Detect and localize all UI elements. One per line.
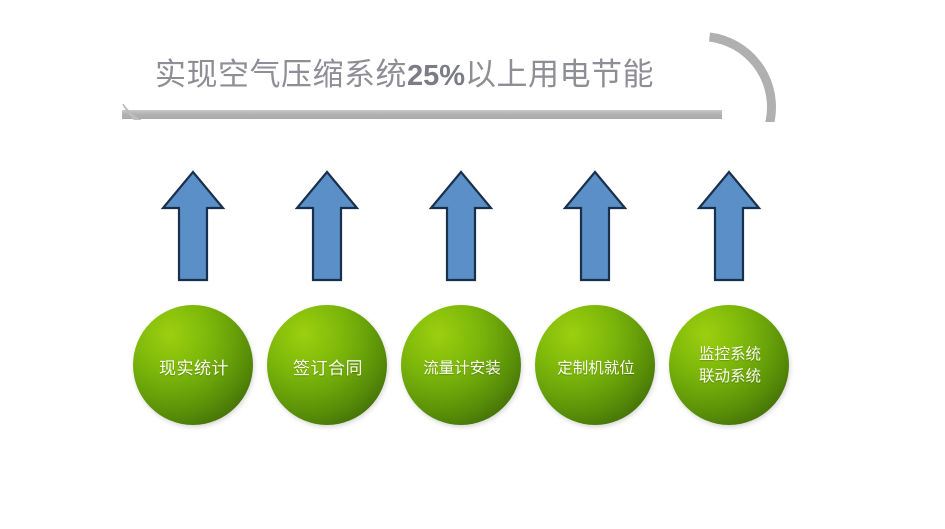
process-step-3[interactable]: 流量计安装 — [394, 160, 528, 440]
banner-bar-left-taper-icon — [118, 104, 164, 120]
banner-crescent-arc-icon — [660, 26, 784, 122]
process-bubble-5[interactable]: 监控系统 联动系统 — [669, 305, 789, 425]
process-bubble-4[interactable]: 定制机就位 — [535, 305, 655, 425]
process-bubble-label-3: 流量计安装 — [421, 352, 501, 379]
title-banner: 实现空气压缩系统25%以上用电节能 — [0, 0, 945, 150]
process-step-1[interactable]: 现实统计 — [126, 160, 260, 440]
process-step-2[interactable]: 签订合同 — [260, 160, 394, 440]
up-arrow-icon-5 — [697, 170, 761, 282]
banner-underline-bar — [122, 110, 722, 119]
process-step-4[interactable]: 定制机就位 — [528, 160, 662, 440]
process-steps-row: 现实统计 签订合同 流量计安装 — [0, 160, 945, 440]
title-trail-text: 以上用电节能 — [465, 57, 654, 92]
title-lead-text: 实现空气压缩系统 — [155, 57, 407, 92]
process-step-5[interactable]: 监控系统 联动系统 — [662, 160, 796, 440]
up-arrow-icon-4 — [563, 170, 627, 282]
up-arrow-icon-3 — [429, 170, 493, 282]
process-bubble-3[interactable]: 流量计安装 — [401, 305, 521, 425]
process-bubble-label-1: 现实统计 — [157, 352, 229, 379]
process-bubble-1[interactable]: 现实统计 — [133, 305, 253, 425]
title-percent-value: 25% — [407, 60, 465, 92]
process-bubble-label-5: 监控系统 联动系统 — [697, 342, 761, 388]
process-bubble-label-2: 签订合同 — [291, 352, 363, 379]
process-bubble-2[interactable]: 签订合同 — [267, 305, 387, 425]
slide-canvas: 实现空气压缩系统25%以上用电节能 现实统计 — [0, 0, 945, 529]
up-arrow-icon-1 — [161, 170, 225, 282]
up-arrow-icon-2 — [295, 170, 359, 282]
process-bubble-label-4: 定制机就位 — [555, 352, 635, 379]
